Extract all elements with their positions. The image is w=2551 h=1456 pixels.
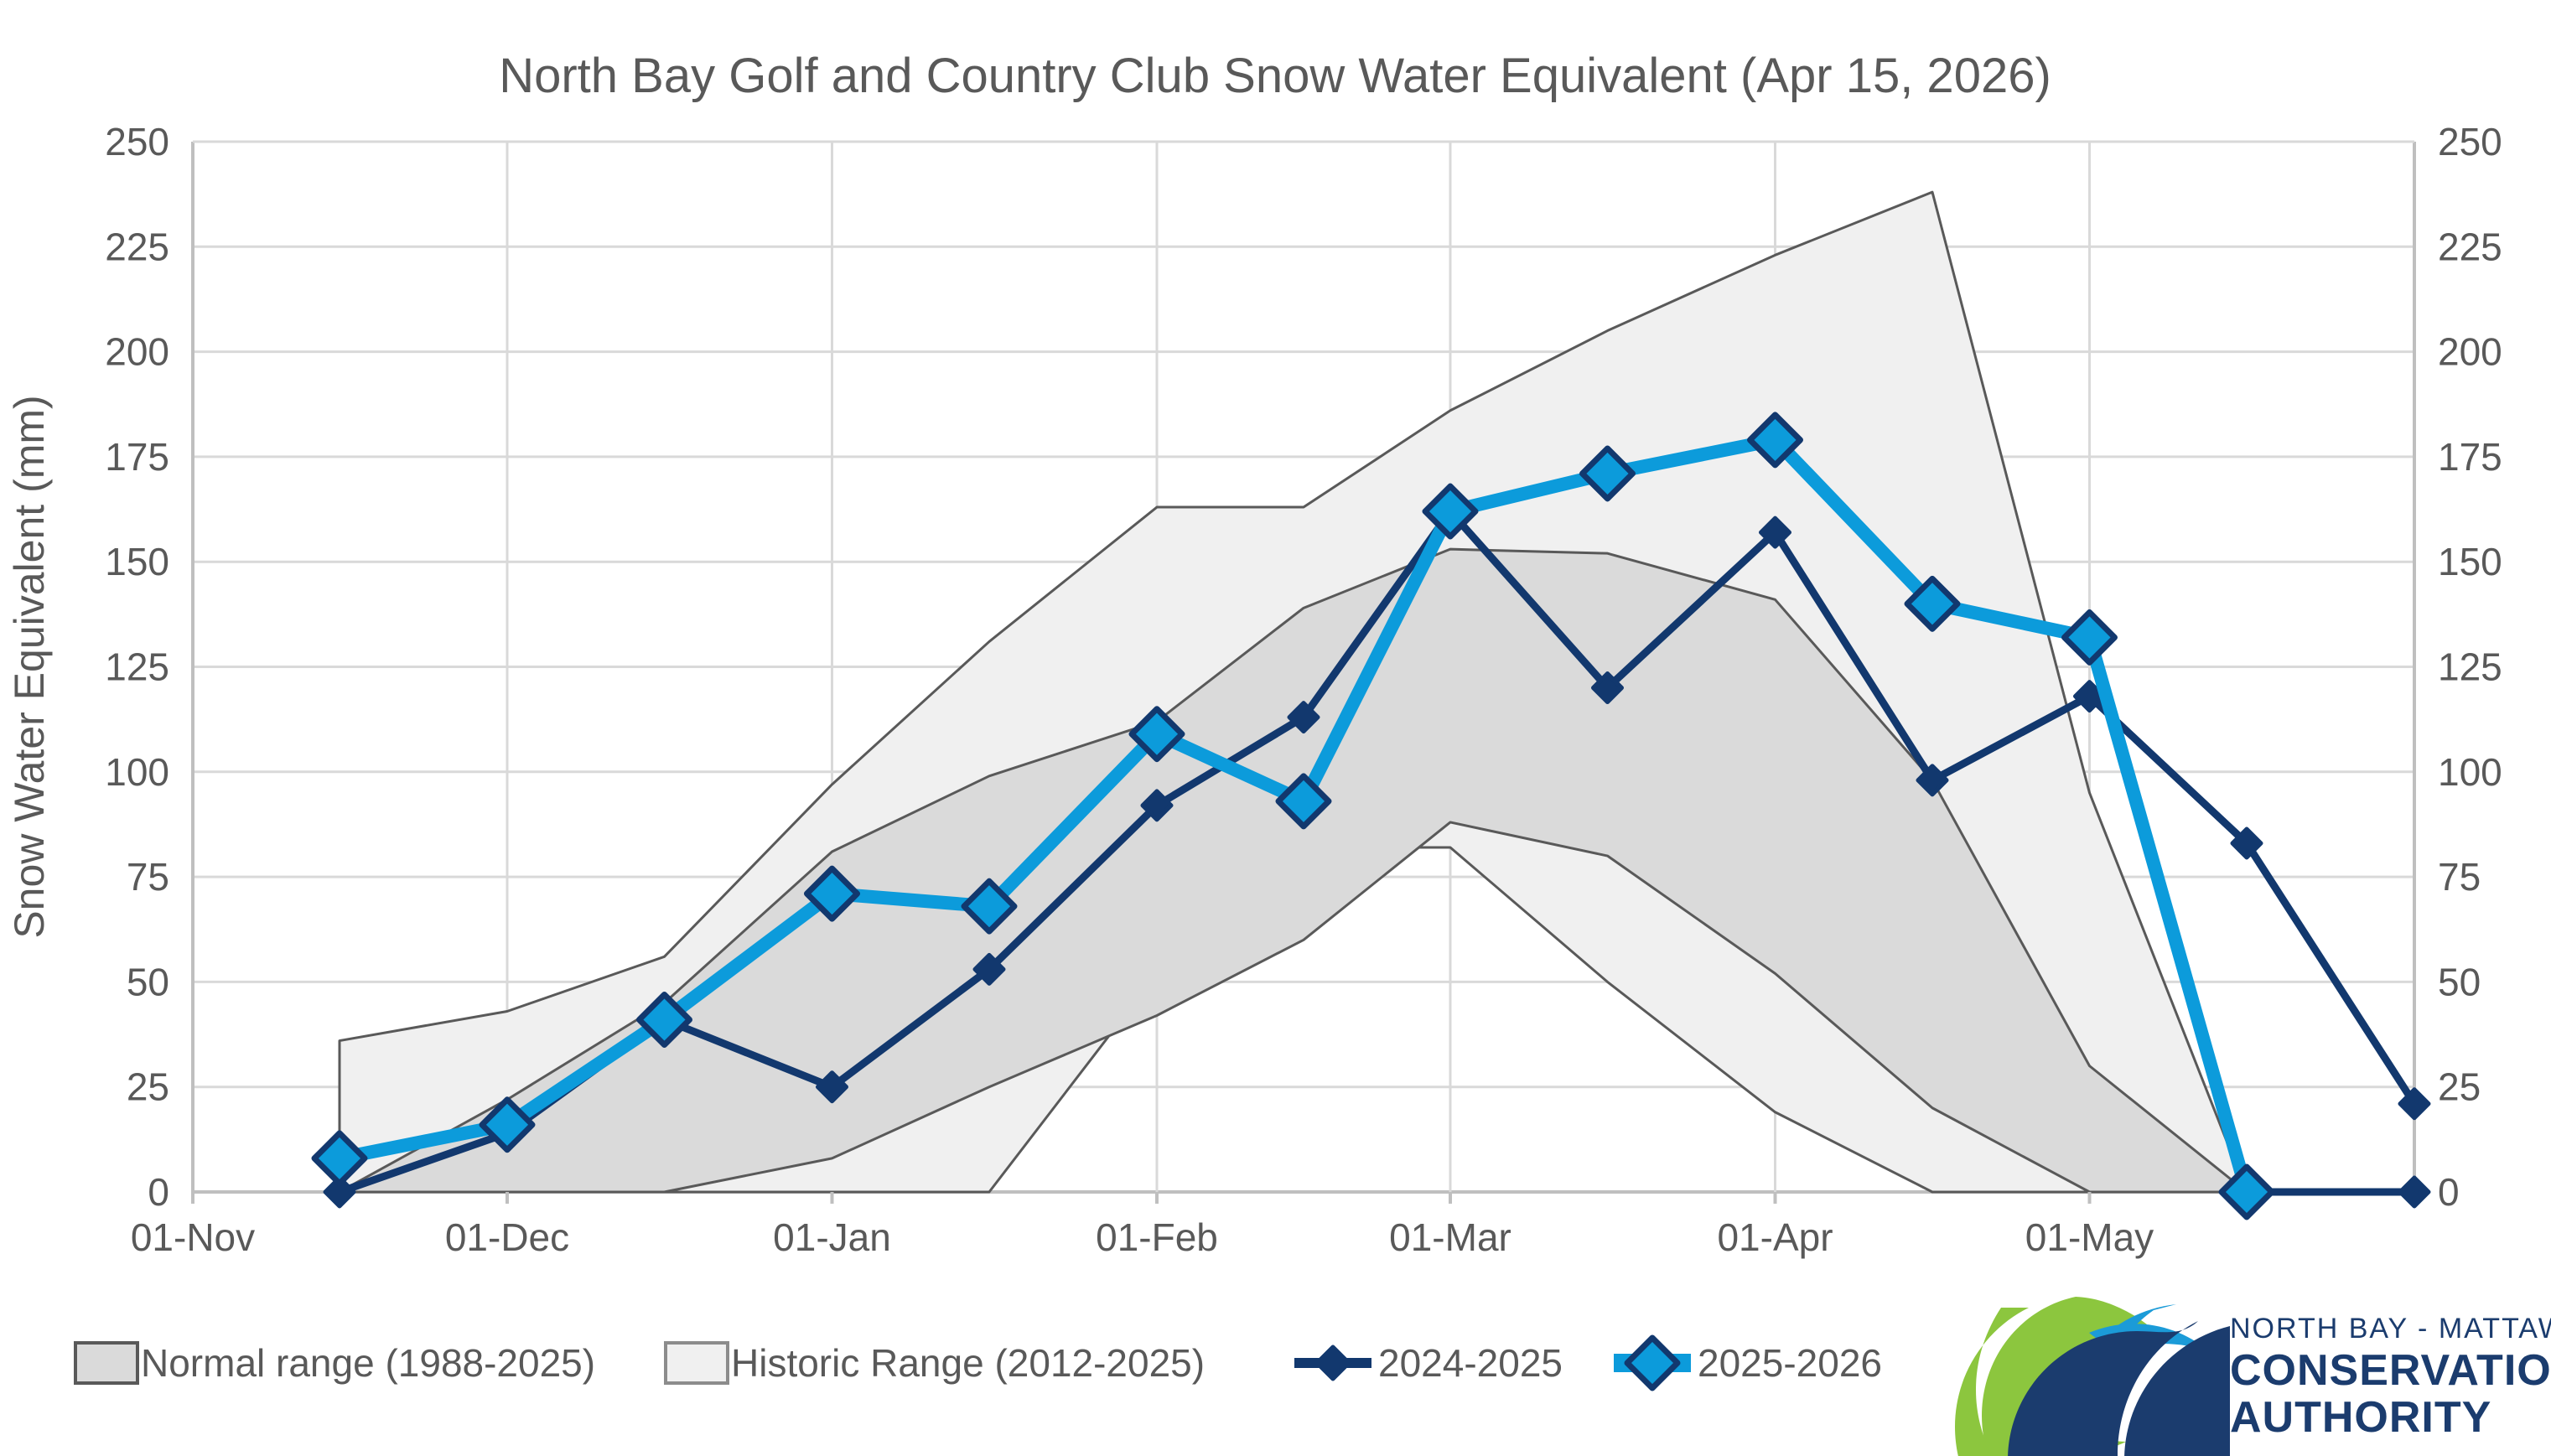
y-axis-tick-label-right: 175 [2438,435,2502,479]
legend-label: 2024-2025 [1378,1341,1563,1385]
y-axis-tick-label: 200 [105,330,169,374]
y-axis-tick-label-right: 25 [2438,1065,2481,1109]
x-axis-tick-label: 01-Dec [445,1215,569,1259]
legend-label: Historic Range (2012-2025) [731,1341,1205,1385]
y-axis-tick-label-right: 75 [2438,855,2481,899]
x-axis-tick-label: 01-Feb [1096,1215,1218,1259]
legend-label: 2025-2026 [1698,1341,1882,1385]
x-axis-tick-label: 01-Mar [1389,1215,1511,1259]
logo-line-3: AUTHORITY [2230,1393,2491,1442]
x-axis-tick-label: 01-Apr [1717,1215,1833,1259]
x-axis-tick-label: 01-Nov [131,1215,255,1259]
legend-swatch [666,1343,728,1383]
y-axis-tick-label: 175 [105,435,169,479]
y-axis-tick-label-right: 125 [2438,645,2502,689]
legend-item-2[interactable]: 2024-2025 [1294,1341,1563,1385]
chart-root: North Bay Golf and Country Club Snow Wat… [0,0,2551,1456]
x-axis-tick-label: 01-May [2025,1215,2154,1259]
y-axis-tick-label-right: 0 [2438,1170,2460,1214]
snow-water-equivalent-chart: North Bay Golf and Country Club Snow Wat… [0,0,2551,1456]
logo-line-1: NORTH BAY - MATTAWA [2230,1313,2551,1345]
legend-item-3[interactable]: 2025-2026 [1614,1338,1882,1388]
x-axis-tick-label: 01-Jan [773,1215,891,1259]
y-axis-tick-label-right: 225 [2438,225,2502,268]
y-axis-tick-label: 100 [105,750,169,794]
y-axis-tick-label: 125 [105,645,169,689]
chart-title: North Bay Golf and Country Club Snow Wat… [499,49,2051,103]
organization-logo: NORTH BAY - MATTAWA CONSERVATION AUTHORI… [1955,1297,2551,1456]
y-axis-tick-label-right: 50 [2438,960,2481,1003]
y-axis-tick-label: 150 [105,540,169,583]
y-axis-title: Snow Water Equivalent (mm) [6,395,53,938]
y-axis-tick-label-right: 150 [2438,540,2502,583]
plot-area: 0025255050757510010012512515015017517520… [6,120,2502,1259]
y-axis-tick-label: 225 [105,225,169,268]
legend-label: Normal range (1988-2025) [141,1341,595,1385]
y-axis-tick-label-right: 250 [2438,120,2502,163]
legend-swatch [75,1343,137,1383]
legend-item-1[interactable]: Historic Range (2012-2025) [666,1341,1205,1385]
y-axis-tick-label: 0 [148,1170,169,1214]
y-axis-tick-label: 250 [105,120,169,163]
logo-line-2: CONSERVATION [2230,1346,2551,1395]
y-axis-tick-label: 75 [127,855,169,899]
legend-item-0[interactable]: Normal range (1988-2025) [75,1341,595,1385]
y-axis-tick-label: 25 [127,1065,169,1109]
y-axis-tick-label: 50 [127,960,169,1003]
y-axis-tick-label-right: 200 [2438,330,2502,374]
y-axis-tick-label-right: 100 [2438,750,2502,794]
